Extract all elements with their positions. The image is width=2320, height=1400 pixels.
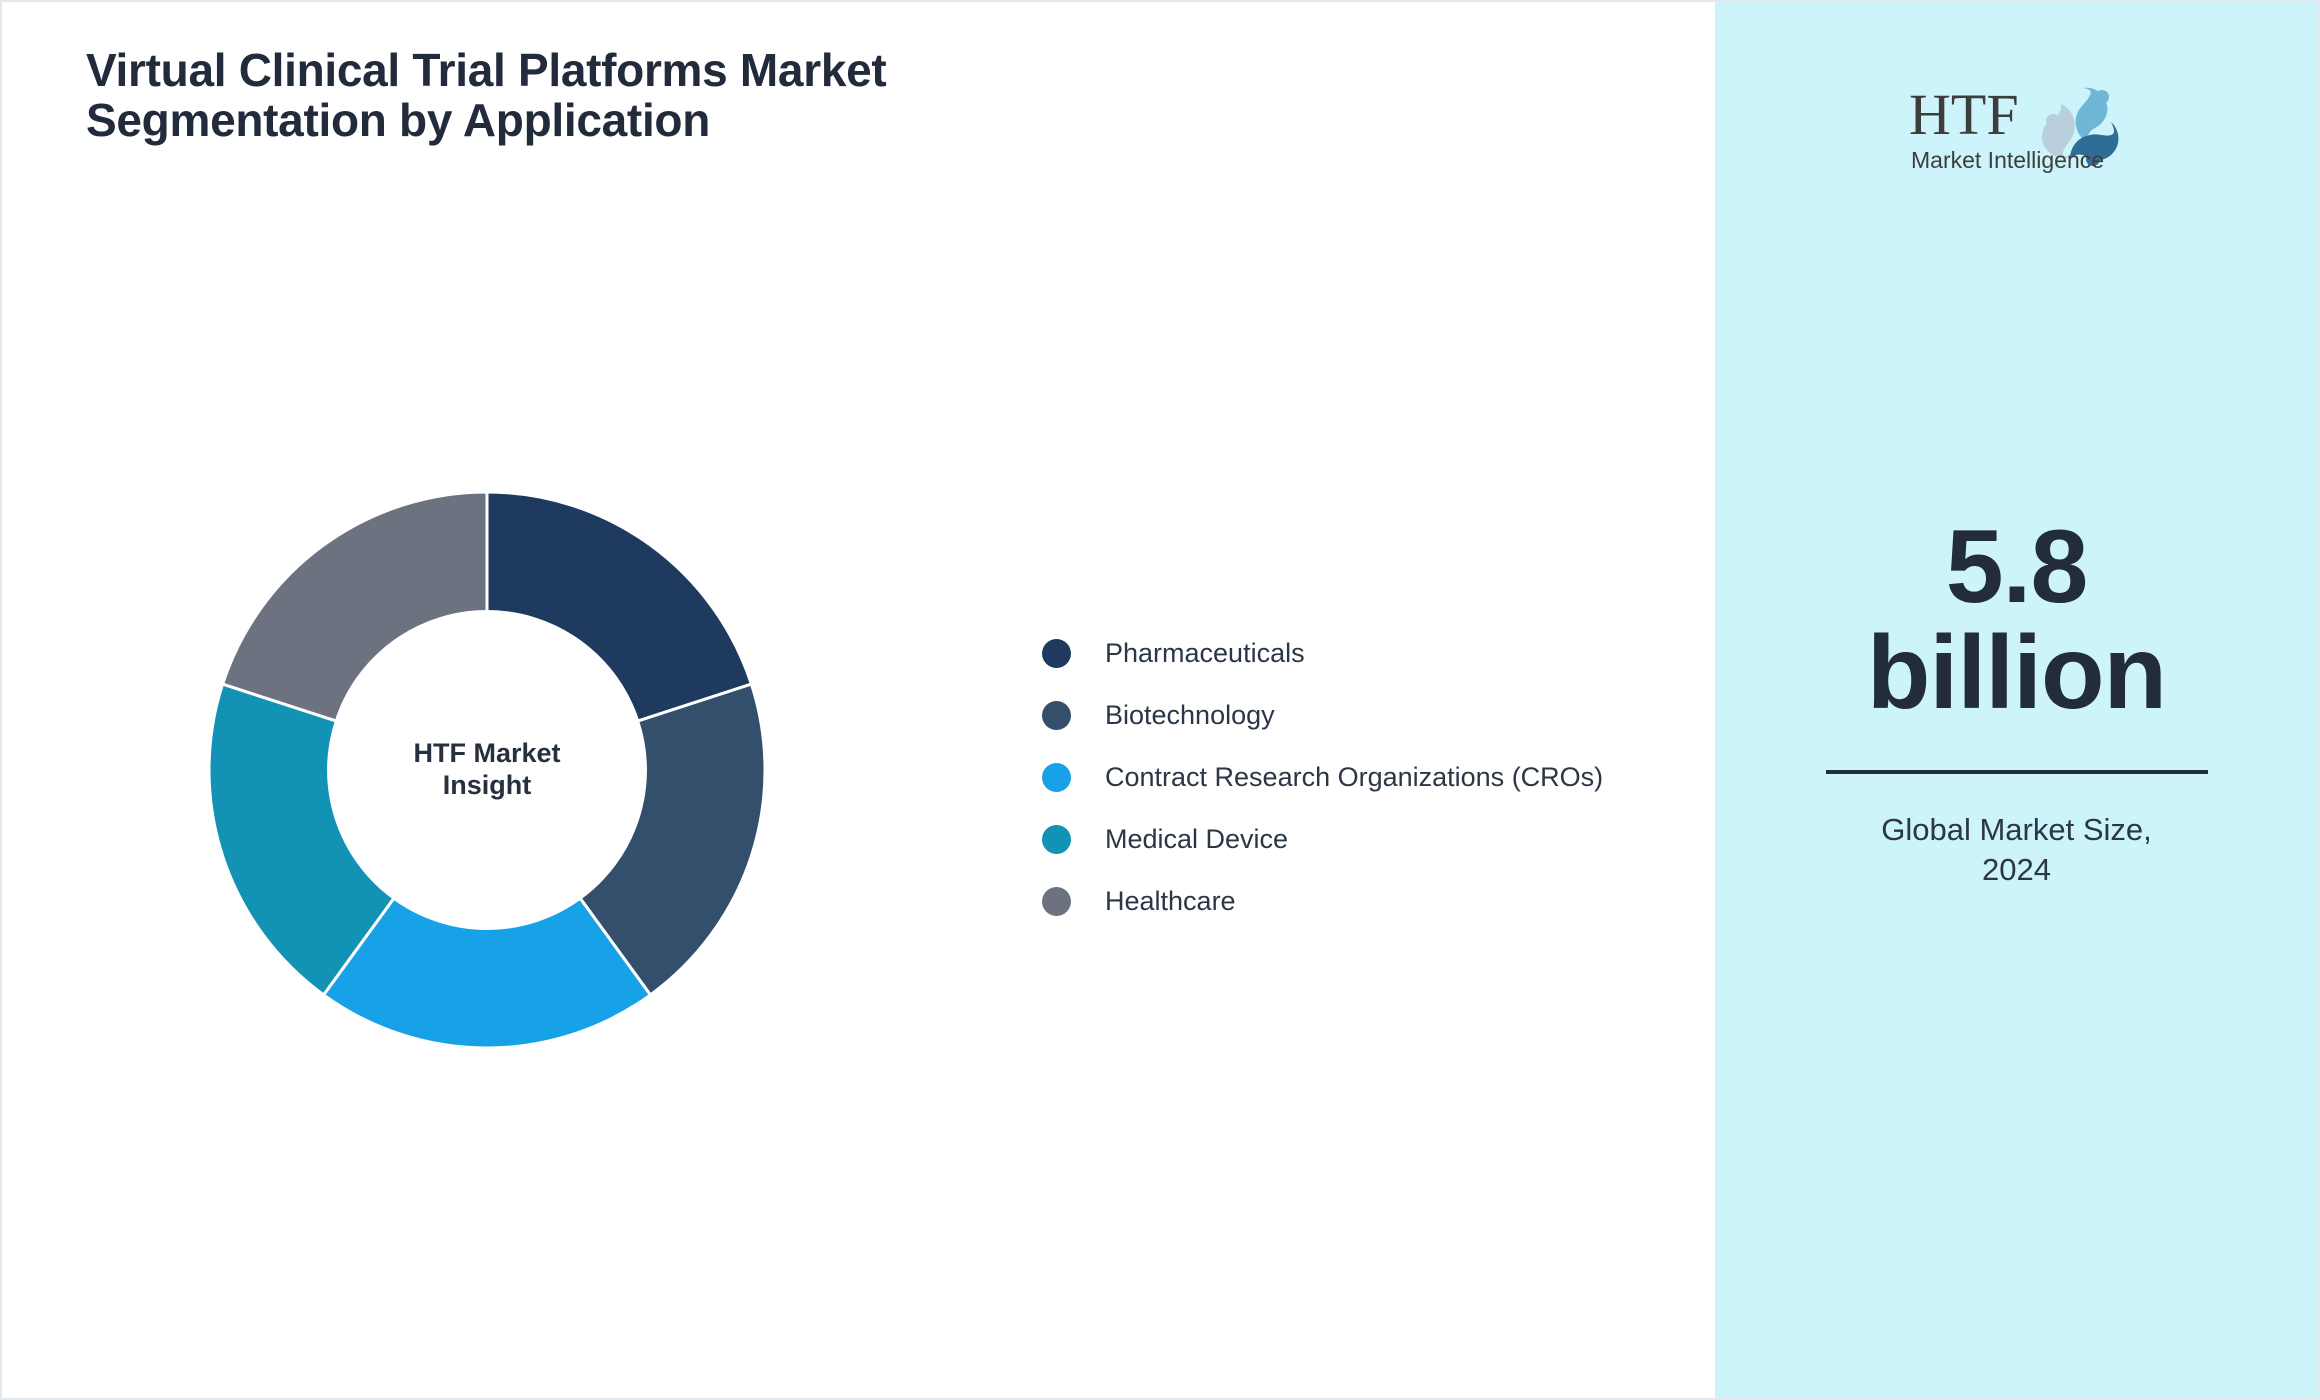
- donut-chart-svg: [197, 480, 777, 1060]
- htf-market-intelligence-logo: HTF Market Intelligence: [1897, 70, 2137, 178]
- legend-swatch-icon: [1042, 825, 1071, 854]
- legend-item-label: Pharmaceuticals: [1105, 638, 1305, 669]
- donut-slice-group: [209, 492, 765, 1048]
- legend-item[interactable]: Healthcare: [1042, 870, 1603, 932]
- chart-legend: PharmaceuticalsBiotechnologyContract Res…: [1042, 622, 1603, 932]
- market-size-value: 5.8 billion: [1802, 514, 2232, 726]
- legend-item[interactable]: Medical Device: [1042, 808, 1603, 870]
- legend-item[interactable]: Pharmaceuticals: [1042, 622, 1603, 684]
- logo-secondary-text: Market Intelligence: [1911, 147, 2104, 173]
- legend-swatch-icon: [1042, 887, 1071, 916]
- legend-item-label: Medical Device: [1105, 824, 1288, 855]
- legend-item[interactable]: Contract Research Organizations (CROs): [1042, 746, 1603, 808]
- legend-item[interactable]: Biotechnology: [1042, 684, 1603, 746]
- legend-item-label: Healthcare: [1105, 886, 1236, 917]
- donut-slice[interactable]: [223, 492, 487, 721]
- stat-panel: HTF Market Intelligence 5.8 billion Glob…: [1715, 2, 2318, 1398]
- market-size-caption: Global Market Size, 2024: [1852, 810, 2182, 889]
- legend-item-label: Contract Research Organizations (CROs): [1105, 762, 1603, 793]
- infographic-card: Virtual Clinical Trial Platforms Market …: [0, 0, 2320, 1400]
- chart-panel: Virtual Clinical Trial Platforms Market …: [2, 2, 1715, 1398]
- logo-primary-text: HTF: [1909, 82, 2019, 147]
- legend-swatch-icon: [1042, 763, 1071, 792]
- page-title: Virtual Clinical Trial Platforms Market …: [86, 46, 986, 145]
- legend-swatch-icon: [1042, 639, 1071, 668]
- donut-slice[interactable]: [487, 492, 751, 721]
- stat-block: 5.8 billion Global Market Size, 2024: [1715, 514, 2318, 890]
- legend-item-label: Biotechnology: [1105, 700, 1275, 731]
- donut-chart: HTF Market Insight: [197, 480, 777, 1060]
- legend-swatch-icon: [1042, 701, 1071, 730]
- stat-divider: [1826, 770, 2208, 774]
- logo-svg: HTF Market Intelligence: [1897, 70, 2137, 178]
